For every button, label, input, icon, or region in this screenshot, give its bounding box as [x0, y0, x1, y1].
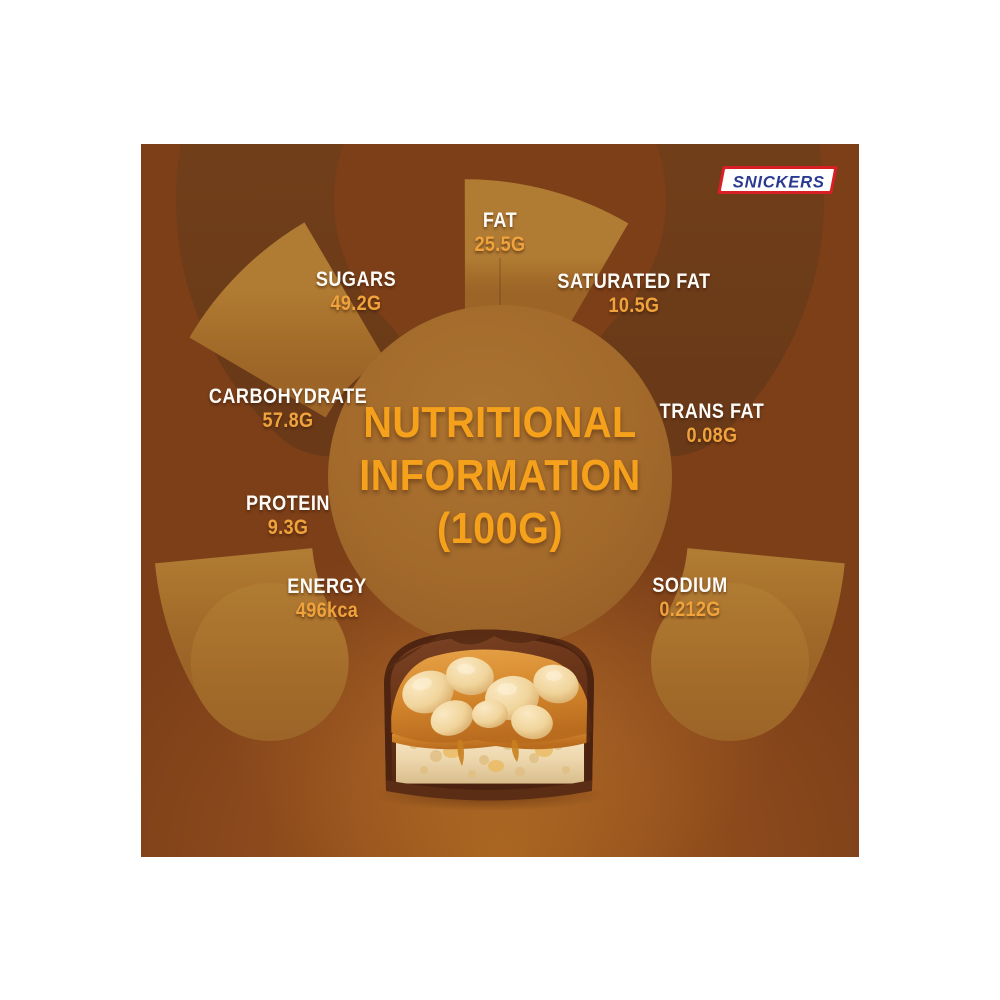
chart-center-title: NUTRITIONAL INFORMATION (100G): [335, 401, 665, 551]
segment-label-saturated-fat: SATURATED FAT 10.5G: [545, 271, 723, 317]
title-line-3: (100G): [352, 507, 649, 551]
segment-name: TRANS FAT: [660, 401, 765, 423]
segment-label-protein: PROTEIN 9.3G: [239, 493, 337, 539]
segment-value: 25.5G: [475, 234, 526, 256]
segment-name: PROTEIN: [246, 493, 330, 515]
segment-value: 0.212G: [652, 599, 727, 621]
segment-label-fat: FAT 25.5G: [470, 210, 529, 256]
snickers-bar-cross-section: [366, 614, 616, 814]
segment-label-trans-fat: TRANS FAT 0.08G: [651, 401, 773, 447]
segment-label-sugars: SUGARS 49.2G: [309, 269, 402, 315]
segment-value: 496kca: [287, 600, 366, 622]
screenshot-root: FAT 25.5G SUGARS 49.2G CARBOHYDRATE 57.8…: [0, 0, 1000, 1000]
nutrition-infographic-panel: FAT 25.5G SUGARS 49.2G CARBOHYDRATE 57.8…: [141, 144, 859, 857]
segment-label-energy: ENERGY 496kca: [281, 576, 373, 622]
segment-name: ENERGY: [287, 576, 366, 598]
segment-label-sodium: SODIUM 0.212G: [646, 575, 734, 621]
segment-name: SODIUM: [652, 575, 727, 597]
segment-value: 49.2G: [316, 293, 396, 315]
title-line-1: NUTRITIONAL: [352, 401, 649, 445]
segment-name: FAT: [475, 210, 526, 232]
logo-wordmark: SNICKERS: [733, 172, 825, 191]
segment-name: SUGARS: [316, 269, 396, 291]
snickers-logo: SNICKERS: [717, 159, 842, 201]
segment-value: 9.3G: [246, 517, 330, 539]
segment-value: 10.5G: [557, 295, 710, 317]
segment-name: SATURATED FAT: [557, 271, 710, 293]
segment-value: 0.08G: [660, 425, 765, 447]
title-line-2: INFORMATION: [352, 454, 649, 498]
